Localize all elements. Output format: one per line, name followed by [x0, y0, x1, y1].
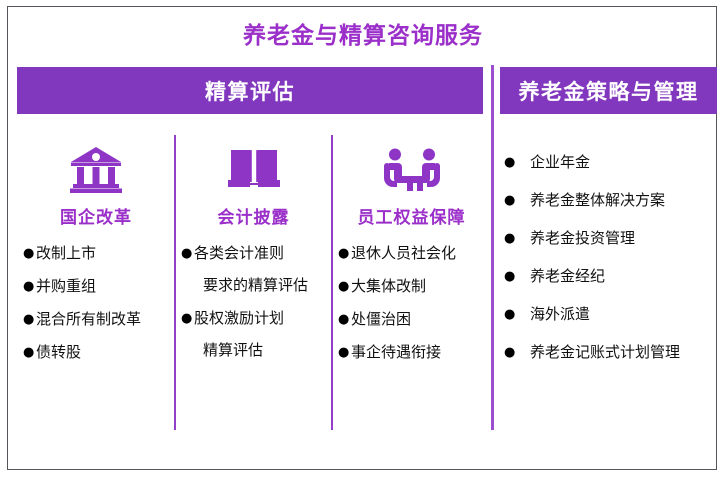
list-item-label: 养老金投资管理: [530, 229, 635, 248]
list-item-label: 养老金整体解决方案: [530, 191, 665, 210]
bank-building-icon: [19, 141, 173, 199]
list-soe-reform: ● 改制上市 ● 并购重组 ● 混合所有制改革 ● 债转股: [19, 228, 173, 362]
bullet-icon: ●: [504, 343, 530, 362]
bullet-icon: ●: [504, 229, 530, 248]
main-section-divider: [491, 65, 494, 430]
list-item-label: 退休人员社会化: [351, 244, 489, 263]
list-item: ● 并购重组: [19, 277, 173, 296]
column-accounting-disclosure: 会计披露 ● 各类会计准则 要求的精算评估 ● 股权激励计划: [175, 135, 332, 431]
list-item-label: 企业年金: [530, 153, 590, 172]
list-item-label: 并购重组: [36, 277, 173, 296]
bullet-icon: ●: [338, 343, 351, 362]
list-item: ● 各类会计准则: [177, 244, 330, 263]
list-item: ● 养老金整体解决方案: [504, 191, 720, 210]
column-title-accounting-disclosure: 会计披露: [177, 203, 330, 228]
section-header-actuarial-assessment: 精算评估: [17, 67, 483, 114]
list-item: ● 养老金记账式计划管理: [504, 343, 720, 362]
list-item: ● 事企待遇衔接: [334, 343, 489, 362]
list-item-label: 事企待遇衔接: [351, 343, 489, 362]
list-accounting-disclosure: ● 各类会计准则 要求的精算评估 ● 股权激励计划 精算评估: [177, 228, 330, 360]
bullet-icon: ●: [23, 343, 36, 362]
list-item: ● 退休人员社会化: [334, 244, 489, 263]
list-item-label: 各类会计准则: [194, 244, 330, 263]
list-item-label: 处僵治困: [351, 310, 489, 329]
list-item-label: 债转股: [36, 343, 173, 362]
list-item: ● 股权激励计划: [177, 309, 330, 328]
list-item: ● 养老金投资管理: [504, 229, 720, 248]
list-item: ● 大集体改制: [334, 277, 489, 296]
bullet-icon: ●: [338, 277, 351, 296]
bullet-icon: ●: [504, 267, 530, 286]
bullet-icon: ●: [181, 309, 194, 328]
bullet-icon: ●: [181, 244, 194, 263]
bullet-icon: ●: [23, 310, 36, 329]
list-item: ● 债转股: [19, 343, 173, 362]
left-section: 国企改革 ● 改制上市 ● 并购重组 ● 混合所有制改革 ●: [17, 135, 491, 431]
section-header-pension-strategy: 养老金策略与管理: [500, 67, 717, 114]
list-item: ● 混合所有制改革: [19, 310, 173, 329]
two-people-seated-icon: [334, 141, 489, 199]
list-pension-strategy: ● 企业年金 ● 养老金整体解决方案 ● 养老金投资管理 ● 养老金经纪 ●: [500, 135, 720, 362]
list-item-label: 大集体改制: [351, 277, 489, 296]
bullet-icon: ●: [23, 244, 36, 263]
bullet-icon: ●: [23, 277, 36, 296]
list-item-label: 精算评估: [203, 341, 330, 360]
bullet-icon: ●: [504, 153, 530, 172]
list-item: ● 改制上市: [19, 244, 173, 263]
list-item: ● 海外派遣: [504, 305, 720, 324]
list-employee-rights: ● 退休人员社会化 ● 大集体改制 ● 处僵治困 ● 事企待遇衔接: [334, 228, 489, 362]
list-item-label: 要求的精算评估: [203, 276, 330, 295]
list-item-continuation: 精算评估: [177, 341, 330, 360]
list-item-label: 股权激励计划: [194, 309, 330, 328]
column-title-soe-reform: 国企改革: [19, 203, 173, 228]
right-section: ● 企业年金 ● 养老金整体解决方案 ● 养老金投资管理 ● 养老金经纪 ●: [500, 135, 720, 431]
list-item: ● 企业年金: [504, 153, 720, 172]
column-soe-reform: 国企改革 ● 改制上市 ● 并购重组 ● 混合所有制改革 ●: [17, 135, 175, 431]
bullet-icon: ●: [504, 305, 530, 324]
bullet-icon: ●: [504, 191, 530, 210]
diagram-frame: 养老金与精算咨询服务 精算评估 养老金策略与管理: [7, 6, 717, 470]
column-title-employee-rights: 员工权益保障: [334, 203, 489, 228]
list-item-label: 养老金经纪: [530, 267, 605, 286]
list-item-label: 海外派遣: [530, 305, 590, 324]
bullet-icon: ●: [338, 310, 351, 329]
page-title: 养老金与精算咨询服务: [8, 21, 718, 51]
list-item-label: 混合所有制改革: [36, 310, 173, 329]
list-item-label: 养老金记账式计划管理: [530, 343, 680, 362]
list-item: ● 处僵治困: [334, 310, 489, 329]
list-item: ● 养老金经纪: [504, 267, 720, 286]
open-book-icon: [177, 141, 330, 199]
bullet-icon: ●: [338, 244, 351, 263]
list-item-continuation: 要求的精算评估: [177, 276, 330, 295]
list-item-label: 改制上市: [36, 244, 173, 263]
infographic-page: 养老金与精算咨询服务 精算评估 养老金策略与管理: [0, 0, 727, 477]
column-employee-rights: 员工权益保障 ● 退休人员社会化 ● 大集体改制 ● 处僵治困: [332, 135, 491, 431]
